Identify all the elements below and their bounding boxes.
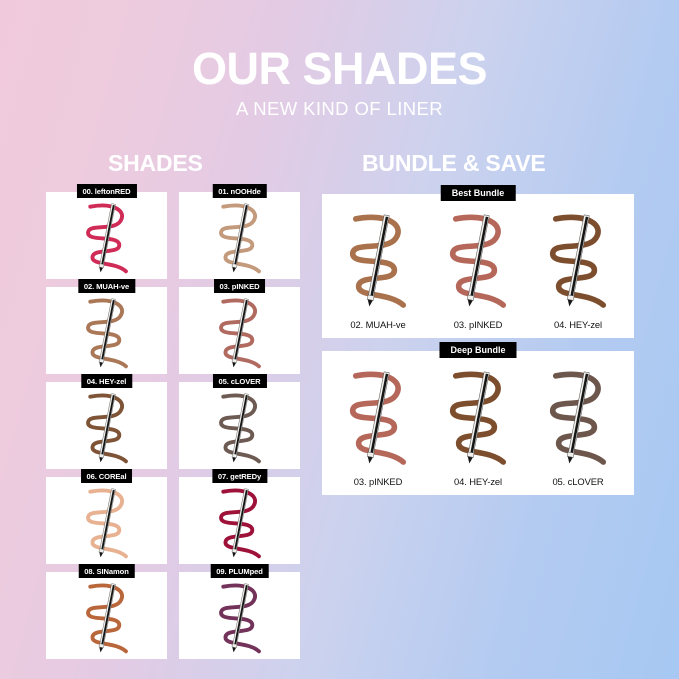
bundle-item-caption: 02. MUAH-ve [350,319,405,330]
shade-swatch-art [46,382,167,469]
bundle-item-caption: 04. HEY-zel [454,476,502,487]
bundle-swatch-art [540,208,616,316]
shades-grid: 00. leftonRED01. nOOHde02. MUAH-ve03. pI… [46,192,304,659]
shade-label-badge: 08. SINamon [78,564,134,578]
shade-stroke [79,485,135,563]
shade-stroke [440,367,516,471]
bundle-swatch-art [540,365,616,473]
shade-swatch-art [46,192,167,279]
header: OUR SHADES A NEW KIND OF LINER [0,0,679,120]
page-subtitle: A NEW KIND OF LINER [0,98,679,120]
shade-swatch-art [46,287,167,374]
bundle-panel[interactable]: Deep Bundle03. pINKED04. HEY-zel05. cLOV… [322,351,634,495]
shade-tile[interactable]: 03. pINKED [179,287,300,374]
shade-stroke [212,485,268,563]
bundle-item[interactable]: 04. HEY-zel [429,365,527,487]
shade-tile[interactable]: 02. MUAH-ve [46,287,167,374]
shade-stroke [212,295,268,373]
shade-swatch-art [179,192,300,279]
bundle-item-caption: 05. cLOVER [552,476,603,487]
shade-stroke [212,580,268,658]
shade-swatch-art [46,572,167,659]
bundle-swatch-art [440,365,516,473]
shade-label-badge: 07. getREDy [212,469,267,483]
bundle-panel[interactable]: Best Bundle02. MUAH-ve03. pINKED04. HEY-… [322,194,634,338]
shade-tile[interactable]: 08. SINamon [46,572,167,659]
bundle-item[interactable]: 05. cLOVER [529,365,627,487]
shade-swatch-art [179,287,300,374]
shades-section-heading: SHADES [108,150,203,177]
shade-tile[interactable]: 07. getREDy [179,477,300,564]
shade-tile[interactable]: 00. leftonRED [46,192,167,279]
shade-swatch-art [46,477,167,564]
shade-label-badge: 02. MUAH-ve [78,279,135,293]
shade-tile[interactable]: 09. PLUMped [179,572,300,659]
bundle-label-badge: Best Bundle [441,185,516,201]
shade-label-badge: 01. nOOHde [212,184,266,198]
bundle-section-heading: BUNDLE & SAVE [362,150,546,177]
shade-stroke [79,390,135,468]
shade-tile[interactable]: 01. nOOHde [179,192,300,279]
bundle-item-caption: 03. pINKED [454,319,503,330]
shade-stroke [540,367,616,471]
shade-swatch-art [179,477,300,564]
bundle-item[interactable]: 03. pINKED [329,365,427,487]
shade-stroke [79,580,135,658]
shade-stroke [440,210,516,314]
shade-tile[interactable]: 05. cLOVER [179,382,300,469]
bundle-label-badge: Deep Bundle [439,342,516,358]
shade-label-badge: 00. leftonRED [76,184,136,198]
shades-section: 00. leftonRED01. nOOHde02. MUAH-ve03. pI… [46,192,304,659]
bundle-item-caption: 03. pINKED [354,476,403,487]
bundle-swatch-art [340,208,416,316]
shade-label-badge: 03. pINKED [214,279,266,293]
shade-stroke [79,295,135,373]
shade-stroke [540,210,616,314]
bundle-item[interactable]: 02. MUAH-ve [329,208,427,330]
bundles-section: Best Bundle02. MUAH-ve03. pINKED04. HEY-… [322,194,634,508]
shade-stroke [79,200,135,278]
shade-stroke [212,390,268,468]
bundle-item[interactable]: 03. pINKED [429,208,527,330]
shade-stroke [340,210,416,314]
shade-tile[interactable]: 06. COREal [46,477,167,564]
shade-label-badge: 04. HEY-zel [81,374,132,388]
shade-swatch-art [179,572,300,659]
shade-label-badge: 06. COREal [81,469,133,483]
shade-tile[interactable]: 04. HEY-zel [46,382,167,469]
page-title: OUR SHADES [0,48,679,91]
bundle-swatch-art [340,365,416,473]
bundle-items-row: 03. pINKED04. HEY-zel05. cLOVER [328,365,628,487]
shade-swatch-art [179,382,300,469]
bundle-items-row: 02. MUAH-ve03. pINKED04. HEY-zel [328,208,628,330]
shade-stroke [340,367,416,471]
shade-label-badge: 05. cLOVER [212,374,266,388]
bundle-item[interactable]: 04. HEY-zel [529,208,627,330]
shade-label-badge: 09. PLUMped [210,564,269,578]
bundle-swatch-art [440,208,516,316]
bundle-item-caption: 04. HEY-zel [554,319,602,330]
shade-stroke [212,200,268,278]
